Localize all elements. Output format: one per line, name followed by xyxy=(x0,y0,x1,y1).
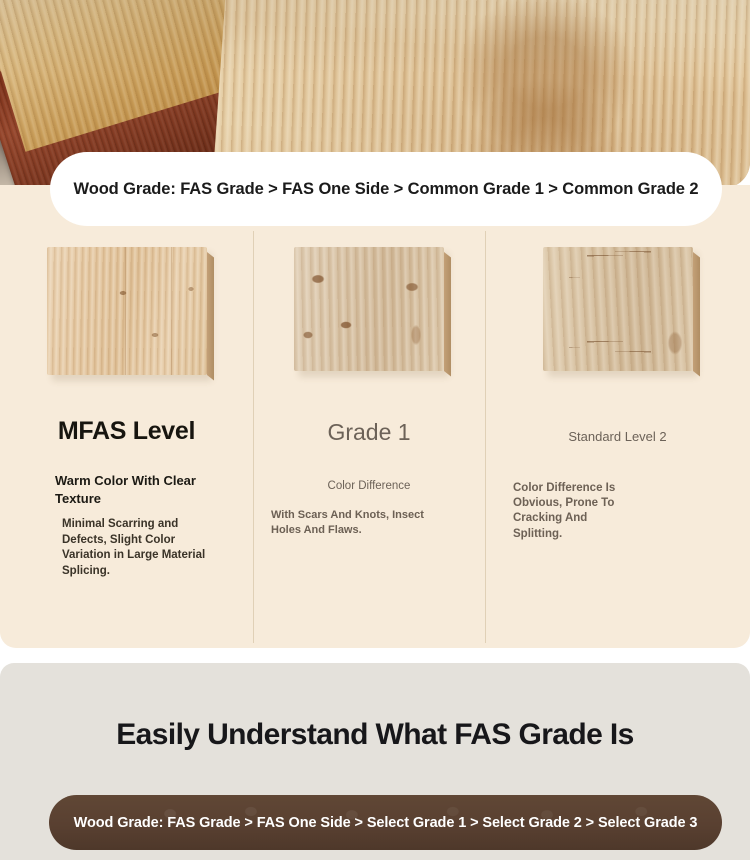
grade-body-3: Color Difference Is Obvious, Prone To Cr… xyxy=(513,481,638,542)
grade-column-grade-1: Grade 1 Color Difference With Scars And … xyxy=(253,231,485,648)
grade-columns: MFAS Level Warm Color With Clear Texture… xyxy=(0,231,750,648)
grade-column-fas: MFAS Level Warm Color With Clear Texture… xyxy=(0,231,253,648)
grade-subtitle-1: Warm Color With Clear Texture xyxy=(55,472,215,507)
grade-title-1: MFAS Level xyxy=(0,417,253,446)
top-breadcrumb-pill: Wood Grade: FAS Grade > FAS One Side > C… xyxy=(50,152,722,226)
wood-sample-standard-2-icon xyxy=(543,247,693,371)
grade-subtitle-2: Color Difference xyxy=(253,480,485,492)
bottom-breadcrumb-text: Wood Grade: FAS Grade > FAS One Side > S… xyxy=(74,815,698,831)
grade-title-2: Grade 1 xyxy=(253,419,485,446)
bottom-breadcrumb-pill: Wood Grade: FAS Grade > FAS One Side > S… xyxy=(49,795,722,850)
wood-sample-grade-1-icon xyxy=(294,247,444,371)
grade-body-2: With Scars And Knots, Insect Holes And F… xyxy=(271,508,456,537)
swatch-container-1 xyxy=(0,239,253,389)
swatch-container-3 xyxy=(485,239,750,389)
grade-title-3: Standard Level 2 xyxy=(485,429,750,444)
grade-body-1: Minimal Scarring and Defects, Slight Col… xyxy=(62,517,222,579)
grade-column-standard-2: Standard Level 2 Color Difference Is Obv… xyxy=(485,231,750,648)
wood-sample-fas-icon xyxy=(47,247,207,375)
bottom-section-title: Easily Understand What FAS Grade Is xyxy=(0,718,750,752)
product-detail-page: Wood Grade: FAS Grade > FAS One Side > C… xyxy=(0,0,750,860)
top-breadcrumb-text: Wood Grade: FAS Grade > FAS One Side > C… xyxy=(74,180,699,199)
swatch-container-2 xyxy=(253,239,485,389)
grade-comparison-panel: MFAS Level Warm Color With Clear Texture… xyxy=(0,185,750,648)
